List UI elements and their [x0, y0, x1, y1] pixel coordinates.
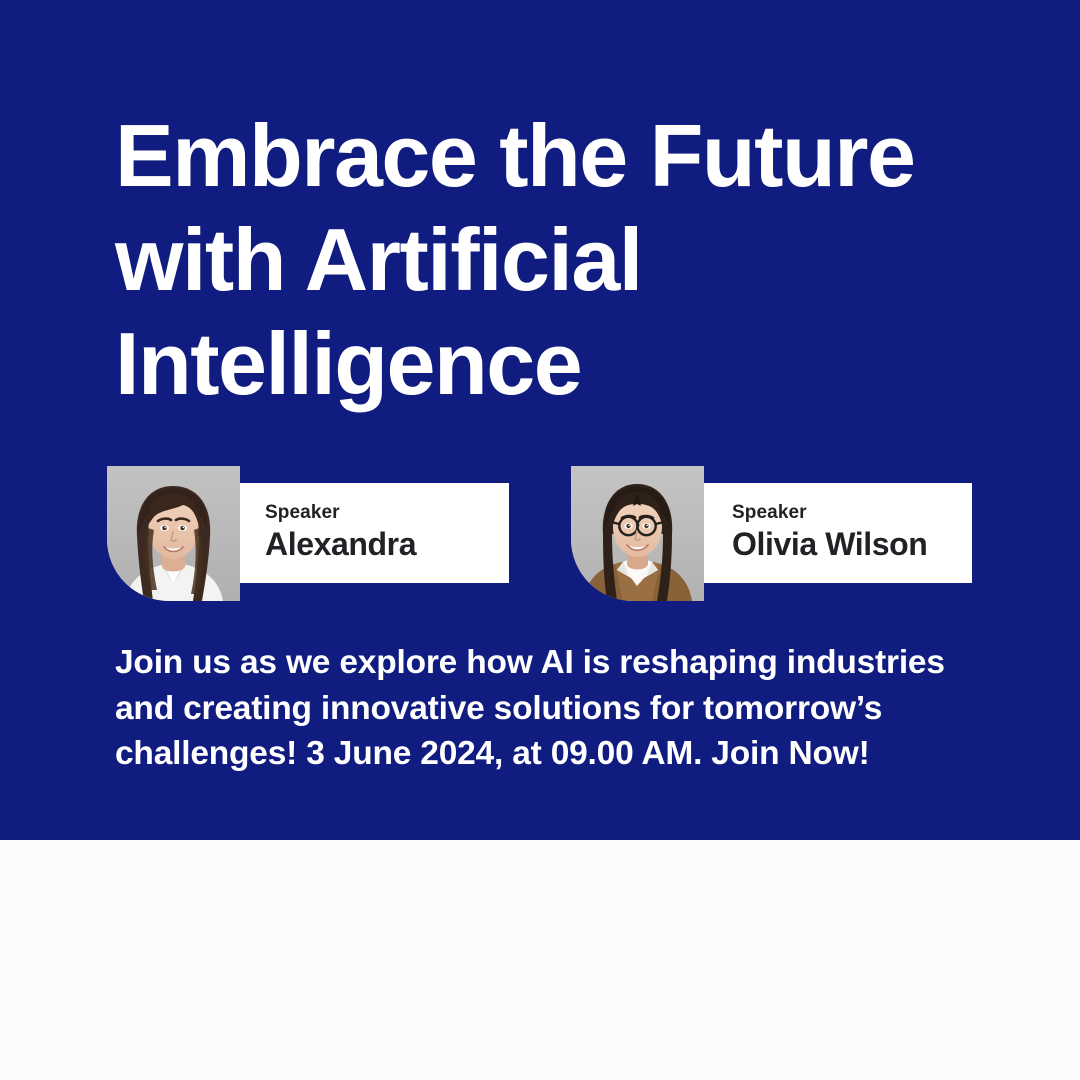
footer-section: Capcut Free Registration! Follow our soc… [0, 840, 1080, 1080]
speaker-name: Olivia Wilson [732, 527, 972, 562]
avatar [571, 466, 704, 601]
speaker-list: Speaker Alexandra [0, 466, 1080, 601]
page-title: Embrace the Future with Artificial Intel… [115, 104, 995, 415]
speaker-role: Speaker [732, 503, 972, 524]
event-poster: Embrace the Future with Artificial Intel… [0, 0, 1080, 1080]
hero-section: Embrace the Future with Artificial Intel… [0, 0, 1080, 840]
avatar [107, 466, 240, 601]
speaker-label-card: Speaker Olivia Wilson [704, 483, 972, 583]
speaker-role: Speaker [265, 503, 509, 524]
speaker-name: Alexandra [265, 527, 509, 562]
speaker-card-alexandra[interactable]: Speaker Alexandra [107, 466, 509, 601]
speaker-label-card: Speaker Alexandra [240, 483, 509, 583]
event-description: Join us as we explore how AI is reshapin… [115, 640, 1005, 777]
speaker-card-olivia-wilson[interactable]: Speaker Olivia Wilson [571, 466, 972, 601]
